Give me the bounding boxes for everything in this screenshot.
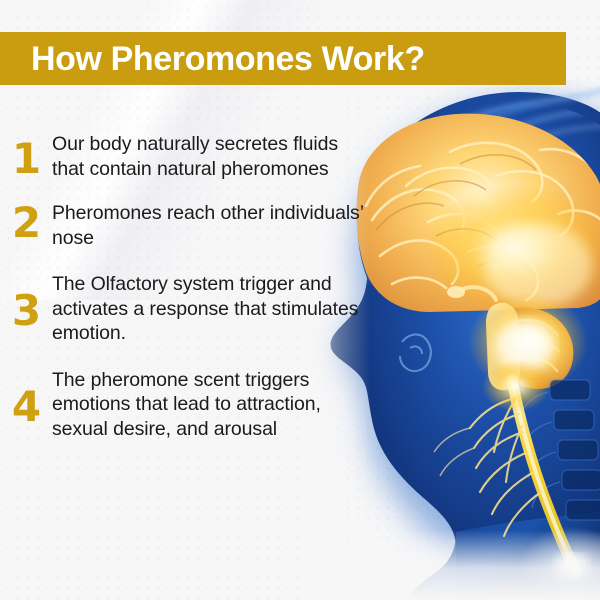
list-item: 3 The Olfactory system trigger and activ… [0, 272, 380, 346]
neck-shoulder [406, 510, 600, 600]
step-text-3: The Olfactory system trigger and activat… [52, 272, 380, 346]
title-bar: How Pheromones Work? [0, 32, 566, 85]
step-text-2: Pheromones reach other individuals’ nose [52, 201, 380, 250]
steps-list: 1 Our body naturally secretes fluids tha… [0, 132, 380, 459]
vertebrae [520, 380, 600, 520]
olfactory-stalk [447, 286, 496, 300]
list-item: 2 Pheromones reach other individuals’ no… [0, 201, 380, 250]
skull-layers [398, 94, 600, 254]
step-text-4: The pheromone scent triggers emotions th… [52, 368, 380, 442]
step-number-1: 1 [0, 132, 52, 180]
spinal-nerve [434, 360, 600, 600]
step-number-3: 3 [0, 272, 52, 332]
artwork-bottom-feather [300, 530, 600, 600]
step-number-4: 4 [0, 368, 52, 428]
step-text-1: Our body naturally secretes fluids that … [52, 132, 380, 181]
list-item: 1 Our body naturally secretes fluids tha… [0, 132, 380, 181]
list-item: 4 The pheromone scent triggers emotions … [0, 368, 380, 442]
infographic-canvas: How Pheromones Work? 1 Our body naturall… [0, 0, 600, 600]
page-title: How Pheromones Work? [0, 42, 425, 76]
ear-detail [400, 335, 431, 372]
brain-stem [468, 292, 588, 392]
step-number-2: 2 [0, 201, 52, 244]
